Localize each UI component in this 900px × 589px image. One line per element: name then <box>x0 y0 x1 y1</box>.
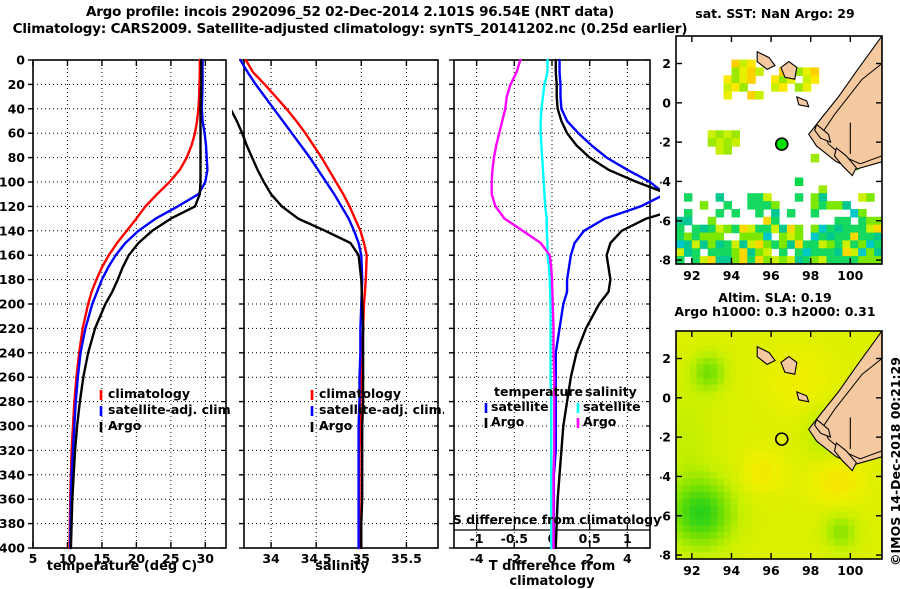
svg-text:120: 120 <box>0 199 25 214</box>
svg-text:satellite-adj. clim.: satellite-adj. clim. <box>319 402 444 417</box>
svg-text:94: 94 <box>723 563 741 578</box>
svg-text:320: 320 <box>0 443 25 458</box>
svg-text:200: 200 <box>0 297 25 312</box>
svg-text:0: 0 <box>662 95 671 110</box>
title-line-2: Climatology: CARS2009. Satellite-adjuste… <box>0 21 700 38</box>
sla-map-title-line-2: Argo h1000: 0.3 h2000: 0.31 <box>660 304 890 319</box>
svg-text:92: 92 <box>683 563 700 578</box>
svg-text:Argo: Argo <box>319 418 353 433</box>
svg-text:satellite: satellite <box>491 399 549 414</box>
t-difference-axis-label: T difference from climatology <box>444 559 660 589</box>
temperature-plot: 0204060801001201401601802002202402602803… <box>0 38 232 580</box>
svg-text:340: 340 <box>0 467 25 482</box>
svg-text:220: 220 <box>0 321 25 336</box>
salinity-plot: 3434.53535.5climatologysatellite-adj. cl… <box>232 38 444 580</box>
copyright-label: ©IMOS 14-Dec-2018 00:21:29 <box>888 357 900 566</box>
svg-text:280: 280 <box>0 394 25 409</box>
svg-text:-4: -4 <box>660 174 671 189</box>
sst-map: 9294969810020-2-4-6-8 <box>660 24 900 286</box>
svg-text:98: 98 <box>802 268 819 283</box>
svg-text:100: 100 <box>0 175 25 190</box>
svg-text:100: 100 <box>837 563 863 578</box>
svg-text:temperature: temperature <box>494 384 583 399</box>
svg-text:satellite-adj. clim.: satellite-adj. clim. <box>108 402 232 417</box>
svg-text:40: 40 <box>8 101 26 116</box>
salinity-panel: 3434.53535.5climatologysatellite-adj. cl… <box>232 38 444 580</box>
svg-text:140: 140 <box>0 223 25 238</box>
difference-panel: -4-2024-1-0.500.51temperaturesatelliteAr… <box>444 38 660 580</box>
sla-map-canvas: 9294969810020-2-4-6-8 <box>660 319 900 581</box>
svg-text:100: 100 <box>837 268 863 283</box>
difference-plot: -4-2024-1-0.500.51temperaturesatelliteAr… <box>444 38 660 580</box>
svg-text:160: 160 <box>0 248 25 263</box>
svg-text:Argo: Argo <box>108 418 142 433</box>
temperature-panel: 0204060801001201401601802002202402602803… <box>0 38 232 580</box>
svg-text:-2: -2 <box>660 430 671 445</box>
svg-text:Argo: Argo <box>491 414 525 429</box>
svg-text:180: 180 <box>0 272 25 287</box>
svg-text:-8: -8 <box>660 253 671 268</box>
sst-map-canvas: 9294969810020-2-4-6-8 <box>660 24 900 286</box>
svg-text:98: 98 <box>802 563 819 578</box>
page-title: Argo profile: incois 2902096_52 02-Dec-2… <box>0 4 700 38</box>
salinity-axis-label: salinity <box>240 559 444 574</box>
svg-text:0.5: 0.5 <box>579 531 601 546</box>
svg-text:-4: -4 <box>660 469 671 484</box>
svg-text:60: 60 <box>8 126 26 141</box>
svg-text:240: 240 <box>0 345 25 360</box>
svg-text:-6: -6 <box>660 213 671 228</box>
svg-text:-0.5: -0.5 <box>501 531 528 546</box>
svg-text:300: 300 <box>0 419 25 434</box>
svg-text:96: 96 <box>762 268 780 283</box>
svg-text:80: 80 <box>8 150 26 165</box>
s-difference-axis-label: S difference from climatology <box>452 512 662 527</box>
svg-text:380: 380 <box>0 516 25 531</box>
svg-text:-8: -8 <box>660 548 671 563</box>
sla-map: 9294969810020-2-4-6-8 <box>660 319 900 581</box>
svg-text:96: 96 <box>762 563 780 578</box>
svg-text:0: 0 <box>662 390 671 405</box>
svg-text:260: 260 <box>0 370 25 385</box>
svg-text:salinity: salinity <box>585 384 637 399</box>
svg-text:0: 0 <box>16 53 25 68</box>
svg-text:climatology: climatology <box>319 386 401 401</box>
svg-text:400: 400 <box>0 541 25 556</box>
svg-text:20: 20 <box>8 77 26 92</box>
sst-map-title: sat. SST: NaN Argo: 29 <box>660 6 890 21</box>
svg-text:Argo: Argo <box>583 414 617 429</box>
svg-text:climatology: climatology <box>108 386 190 401</box>
svg-text:satellite: satellite <box>583 399 641 414</box>
svg-text:94: 94 <box>723 268 741 283</box>
svg-text:-6: -6 <box>660 508 671 523</box>
svg-text:360: 360 <box>0 492 25 507</box>
temperature-axis-label: temperature (deg C) <box>12 559 232 574</box>
svg-text:-1: -1 <box>470 531 484 546</box>
svg-text:-2: -2 <box>660 135 671 150</box>
svg-text:1: 1 <box>623 531 632 546</box>
svg-text:2: 2 <box>662 351 671 366</box>
sla-map-title-line-1: Altim. SLA: 0.19 <box>660 290 890 305</box>
title-line-1: Argo profile: incois 2902096_52 02-Dec-2… <box>0 4 700 21</box>
svg-text:2: 2 <box>662 56 671 71</box>
svg-text:92: 92 <box>683 268 700 283</box>
